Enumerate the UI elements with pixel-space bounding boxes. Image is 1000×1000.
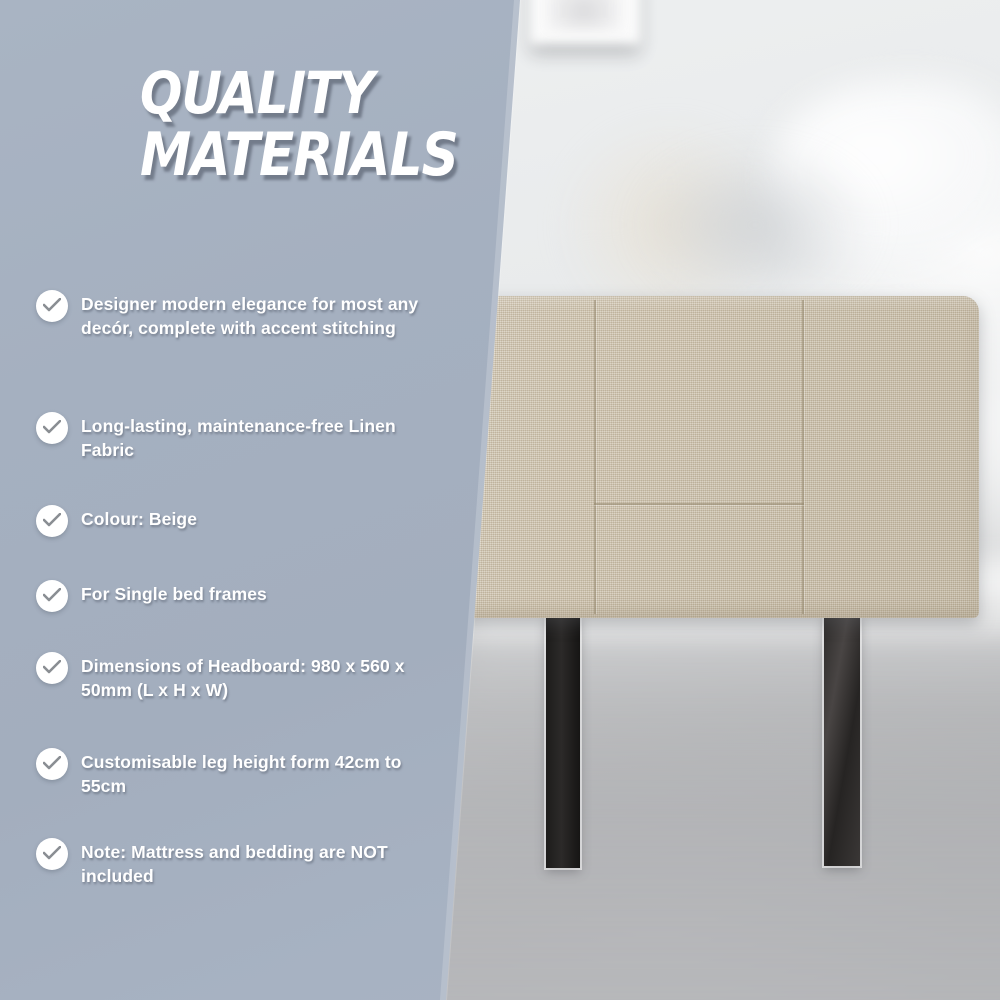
headboard-leg-left [546,614,580,868]
title-line-1: QUALITY [140,59,374,127]
check-circle-icon [36,652,68,684]
list-item: Customisable leg height form 42cm to 55c… [36,748,426,798]
check-circle-icon [36,838,68,870]
page-title: QUALITY MATERIALS [140,62,450,186]
product-infographic: QUALITY MATERIALS Designer modern elegan… [0,0,1000,1000]
list-item: Dimensions of Headboard: 980 x 560 x 50m… [36,652,426,702]
list-item: Designer modern elegance for most any de… [36,290,426,340]
check-circle-icon [36,580,68,612]
feature-text: Note: Mattress and bedding are NOT inclu… [81,838,426,888]
check-circle-icon [36,290,68,322]
check-circle-icon [36,748,68,780]
check-circle-icon [36,412,68,444]
blurred-floor [400,640,1000,1000]
list-item: Long-lasting, maintenance-free Linen Fab… [36,412,426,462]
feature-text: For Single bed frames [81,580,267,606]
blurred-pillow-right [640,150,870,300]
list-item: Note: Mattress and bedding are NOT inclu… [36,838,426,888]
feature-text: Customisable leg height form 42cm to 55c… [81,748,426,798]
feature-text: Long-lasting, maintenance-free Linen Fab… [81,412,426,462]
headboard-leg-right [824,614,860,866]
list-item: Colour: Beige [36,505,426,537]
check-circle-icon [36,505,68,537]
upholstered-headboard [422,296,979,618]
feature-text: Designer modern elegance for most any de… [81,290,426,340]
list-item: For Single bed frames [36,580,426,612]
wall-picture-artwork [548,0,620,30]
title-line-2: MATERIALS [140,124,450,186]
stitch-line-vertical-right [802,300,804,614]
feature-text: Dimensions of Headboard: 980 x 560 x 50m… [81,652,426,702]
stitch-line-vertical-left [594,300,596,614]
stitch-line-horizontal [594,503,804,505]
feature-text: Colour: Beige [81,505,197,531]
